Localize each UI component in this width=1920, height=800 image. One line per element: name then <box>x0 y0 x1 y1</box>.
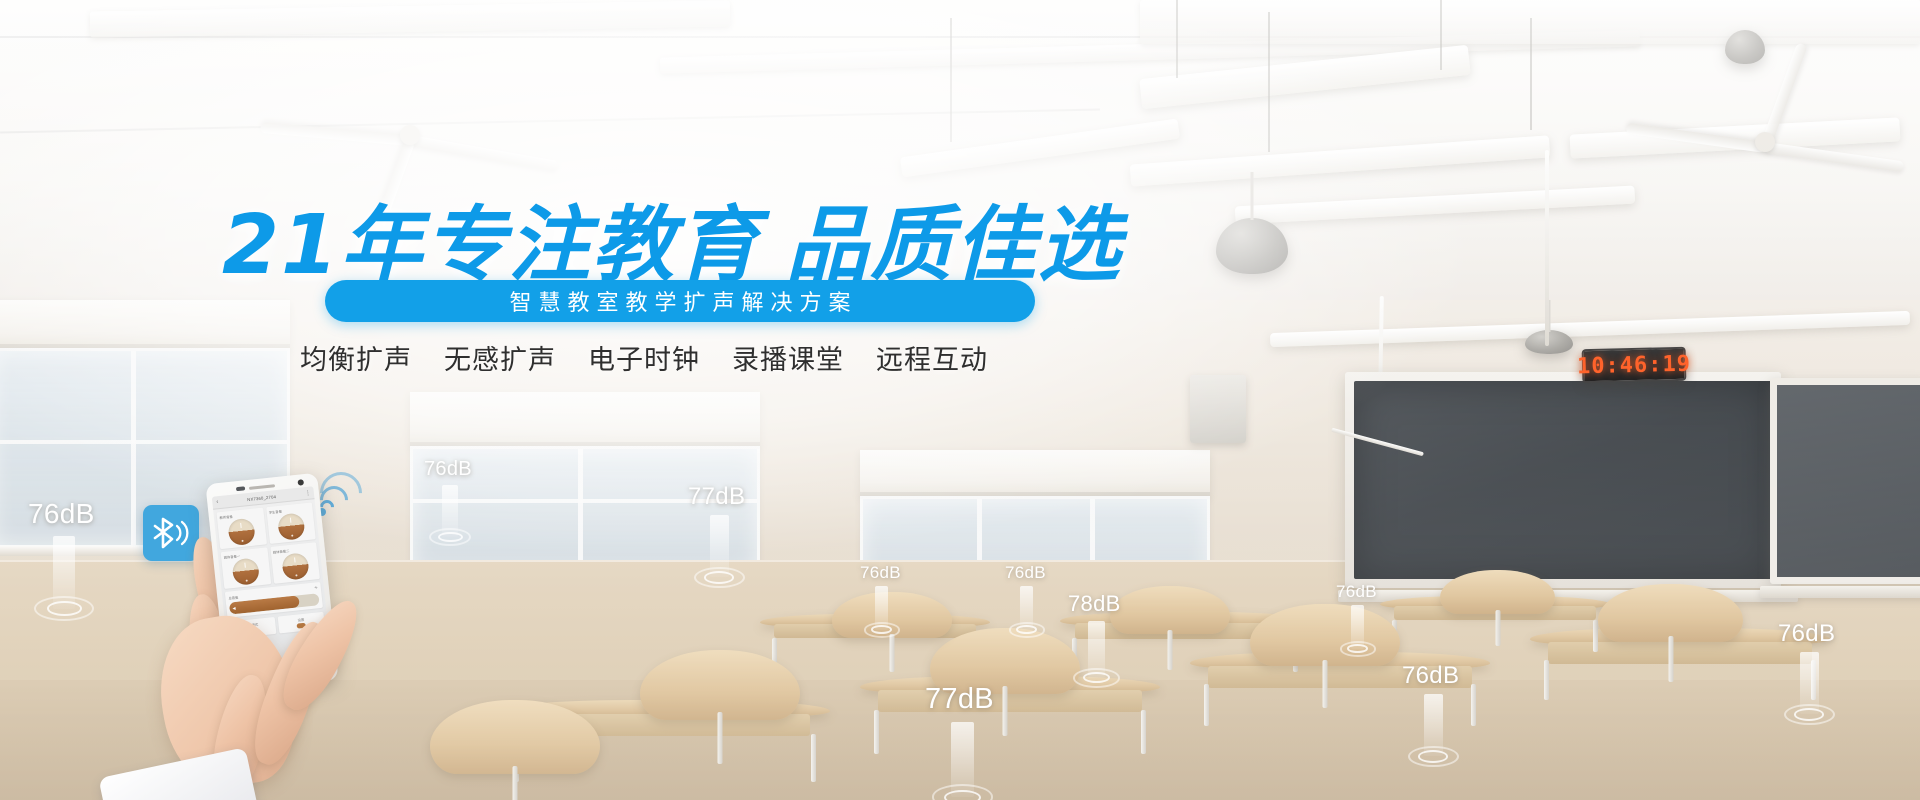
back-icon[interactable]: ‹ <box>216 499 219 505</box>
ceiling-speaker <box>1216 218 1288 274</box>
db-marker-5: 78dB <box>1068 591 1121 617</box>
wall-mounted-receiver <box>1190 375 1246 443</box>
subtitle-text: 智慧教室教学扩声解决方案 <box>502 285 857 317</box>
blackboard-tray <box>1760 586 1920 598</box>
volume-knob[interactable] <box>232 557 261 586</box>
feature-item-1: 无感扩声 <box>444 338 556 377</box>
microphone-stand <box>1545 150 1549 346</box>
db-marker-2: 77dB <box>688 483 745 511</box>
db-marker-6: 77dB <box>925 683 994 716</box>
ceiling-fan <box>250 100 570 170</box>
light-hanger <box>1530 18 1532 130</box>
light-hanger <box>1268 12 1270 152</box>
bluetooth-glyph <box>151 516 191 550</box>
zone-row: 媒体音量一 媒体音量二 <box>221 542 320 589</box>
feature-item-4: 远程互动 <box>876 338 988 377</box>
student-chair <box>1598 584 1743 642</box>
window-blind <box>860 450 1210 496</box>
led-clock: 10:46:19 <box>1582 347 1687 384</box>
scene-mode-indicator <box>248 628 257 634</box>
feature-item-3: 录播课堂 <box>732 338 844 377</box>
volume-knob[interactable] <box>281 552 310 581</box>
db-marker-4: 76dB <box>1005 563 1046 583</box>
feature-item-2: 电子时钟 <box>588 338 700 377</box>
feature-list: 均衡扩声无感扩声电子时钟录播课堂远程互动 <box>300 338 988 377</box>
student-chair <box>1440 570 1555 614</box>
zone-row: 教师音量 学生音量 <box>216 502 315 549</box>
student-chair <box>1110 586 1230 634</box>
phone-camera <box>297 479 304 486</box>
db-marker-7: 76dB <box>1336 582 1377 602</box>
plus-icon[interactable]: + <box>314 585 318 591</box>
phone-home-button[interactable] <box>267 674 297 683</box>
student-chair <box>1250 604 1400 666</box>
light-hanger <box>1440 0 1442 70</box>
zone-card[interactable]: 媒体音量一 <box>221 547 271 589</box>
light-hanger <box>950 18 952 142</box>
phone-earpiece <box>249 484 275 490</box>
ceiling-speaker <box>1725 30 1765 64</box>
smartphone[interactable]: ‹ NX7360_2704 ⋮ 教师音量 学生音量 <box>205 473 338 692</box>
more-vertical-icon[interactable]: ⋮ <box>305 489 311 496</box>
db-marker-8: 76dB <box>1402 662 1459 690</box>
settings-indicator <box>297 623 306 629</box>
db-marker-9: 76dB <box>1778 620 1835 648</box>
feature-item-0: 均衡扩声 <box>300 338 412 377</box>
db-marker-0: 76dB <box>28 498 95 530</box>
zone-card[interactable]: 学生音量 <box>266 502 316 544</box>
student-chair <box>640 650 800 720</box>
ceiling-speaker <box>1525 330 1573 354</box>
volume-knob[interactable] <box>277 512 306 541</box>
window-blind <box>410 392 760 446</box>
title-sub: 品质佳选 <box>786 198 1122 293</box>
db-marker-3: 76dB <box>860 563 901 583</box>
blackboard-wing <box>1770 378 1920 584</box>
zone-card[interactable]: 媒体音量二 <box>270 542 320 584</box>
volume-knob[interactable] <box>228 517 257 546</box>
app-title: NX7360_2704 <box>247 494 276 502</box>
phone-led <box>236 486 245 491</box>
master-volume-label: 总音量 <box>228 594 238 600</box>
ceiling-fan <box>1620 110 1910 174</box>
scene-mode-label: 场景模式 <box>245 622 259 627</box>
student-chair <box>832 592 952 638</box>
light-hanger <box>1176 0 1178 78</box>
phone-in-hand: ‹ NX7360_2704 ⋮ 教师音量 学生音量 <box>196 478 496 800</box>
clock-time: 10:46:19 <box>1577 351 1692 379</box>
scene-mode-button[interactable]: 场景模式 <box>228 617 276 638</box>
zone-cards: 教师音量 学生音量 媒体音量一 媒体音量二 <box>213 499 332 675</box>
zone-card[interactable]: 教师音量 <box>216 508 266 550</box>
phone-screen[interactable]: ‹ NX7360_2704 ⋮ 教师音量 学生音量 <box>212 486 332 675</box>
settings-label: 设置 <box>297 617 304 622</box>
settings-button[interactable]: 设置 <box>277 612 325 633</box>
blackboard <box>1345 372 1781 588</box>
window-blind <box>0 300 290 348</box>
subtitle-pill: 智慧教室教学扩声解决方案 <box>325 280 1035 322</box>
title-main: 21年专注教育 <box>222 198 760 293</box>
bluetooth-icon <box>143 505 199 561</box>
